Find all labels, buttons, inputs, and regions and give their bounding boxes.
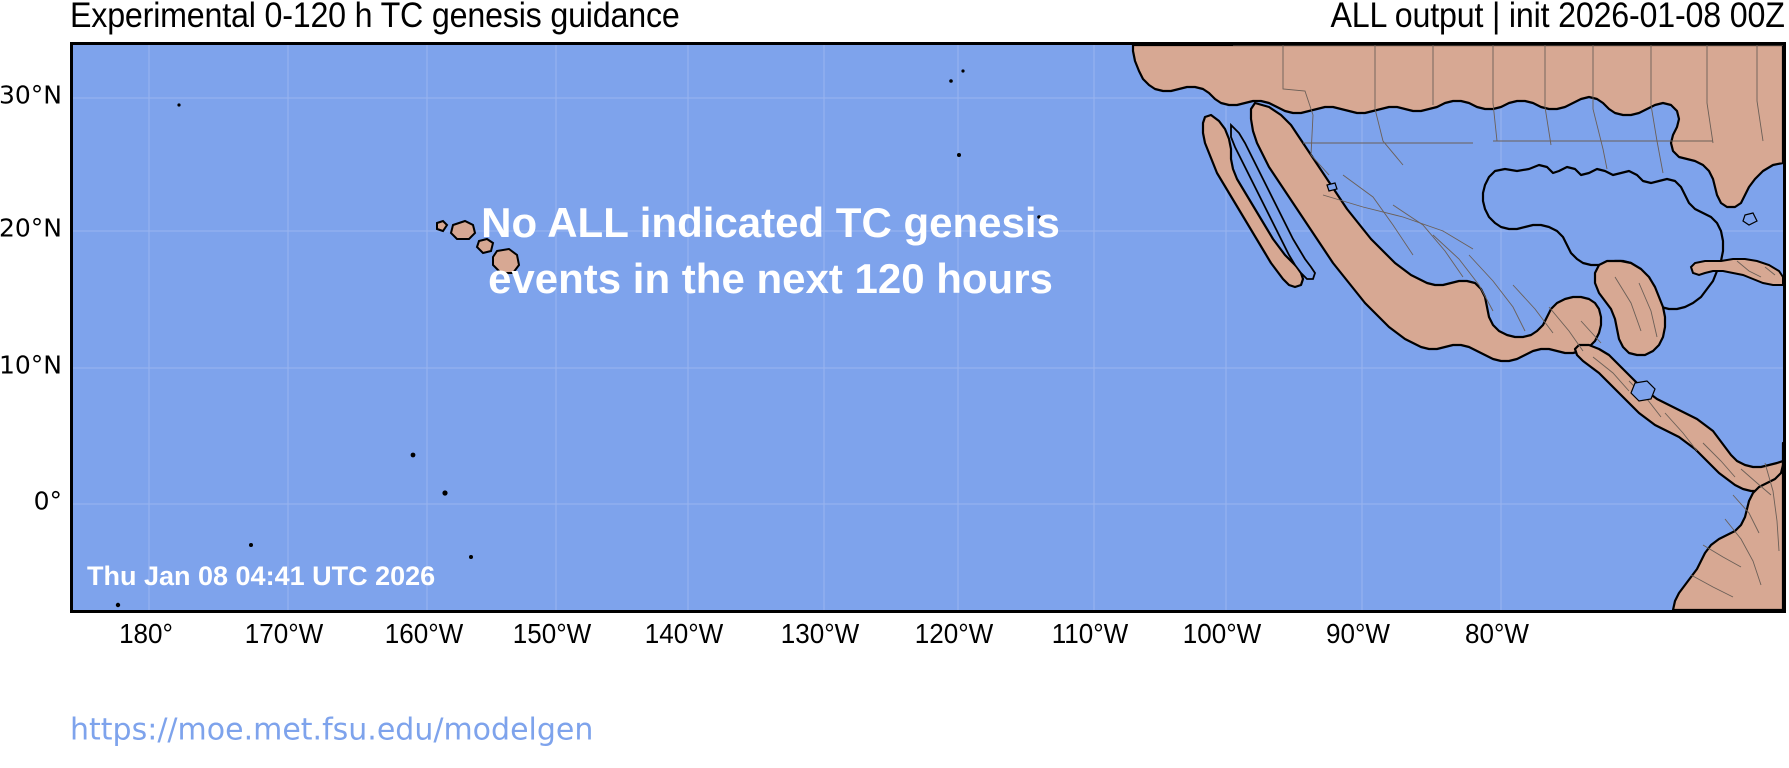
timestamp-label: Thu Jan 08 04:41 UTC 2026 (87, 561, 435, 592)
x-tick-label: 150°W (513, 618, 591, 650)
x-tick-label: 110°W (1052, 618, 1129, 650)
x-tick-label: 180° (119, 618, 173, 650)
y-tick-label: 0° (34, 487, 62, 516)
source-url-link[interactable]: https://moe.met.fsu.edu/modelgen (70, 713, 593, 748)
x-tick-label: 140°W (645, 618, 723, 650)
y-tick-label: 30°N (0, 81, 62, 110)
ocean-fill (73, 45, 1783, 610)
map-panel[interactable]: No ALL indicated TC genesis events in th… (70, 42, 1786, 613)
x-tick-label: 90°W (1326, 618, 1390, 650)
x-tick-label: 130°W (781, 618, 859, 650)
x-tick-label: 120°W (915, 618, 993, 650)
header: Experimental 0-120 h TC genesis guidance… (0, 0, 1789, 42)
page-title: Experimental 0-120 h TC genesis guidance (70, 0, 680, 36)
x-tick-label: 80°W (1465, 618, 1529, 650)
y-tick-label: 10°N (0, 351, 62, 380)
x-tick-label: 160°W (385, 618, 463, 650)
x-tick-label: 170°W (245, 618, 323, 650)
x-tick-label: 100°W (1183, 618, 1261, 650)
basemap-svg (73, 45, 1783, 610)
y-tick-label: 20°N (0, 214, 62, 243)
model-init-label: ALL output | init 2026-01-08 00Z (1331, 0, 1785, 36)
page-root: Experimental 0-120 h TC genesis guidance… (0, 0, 1789, 768)
